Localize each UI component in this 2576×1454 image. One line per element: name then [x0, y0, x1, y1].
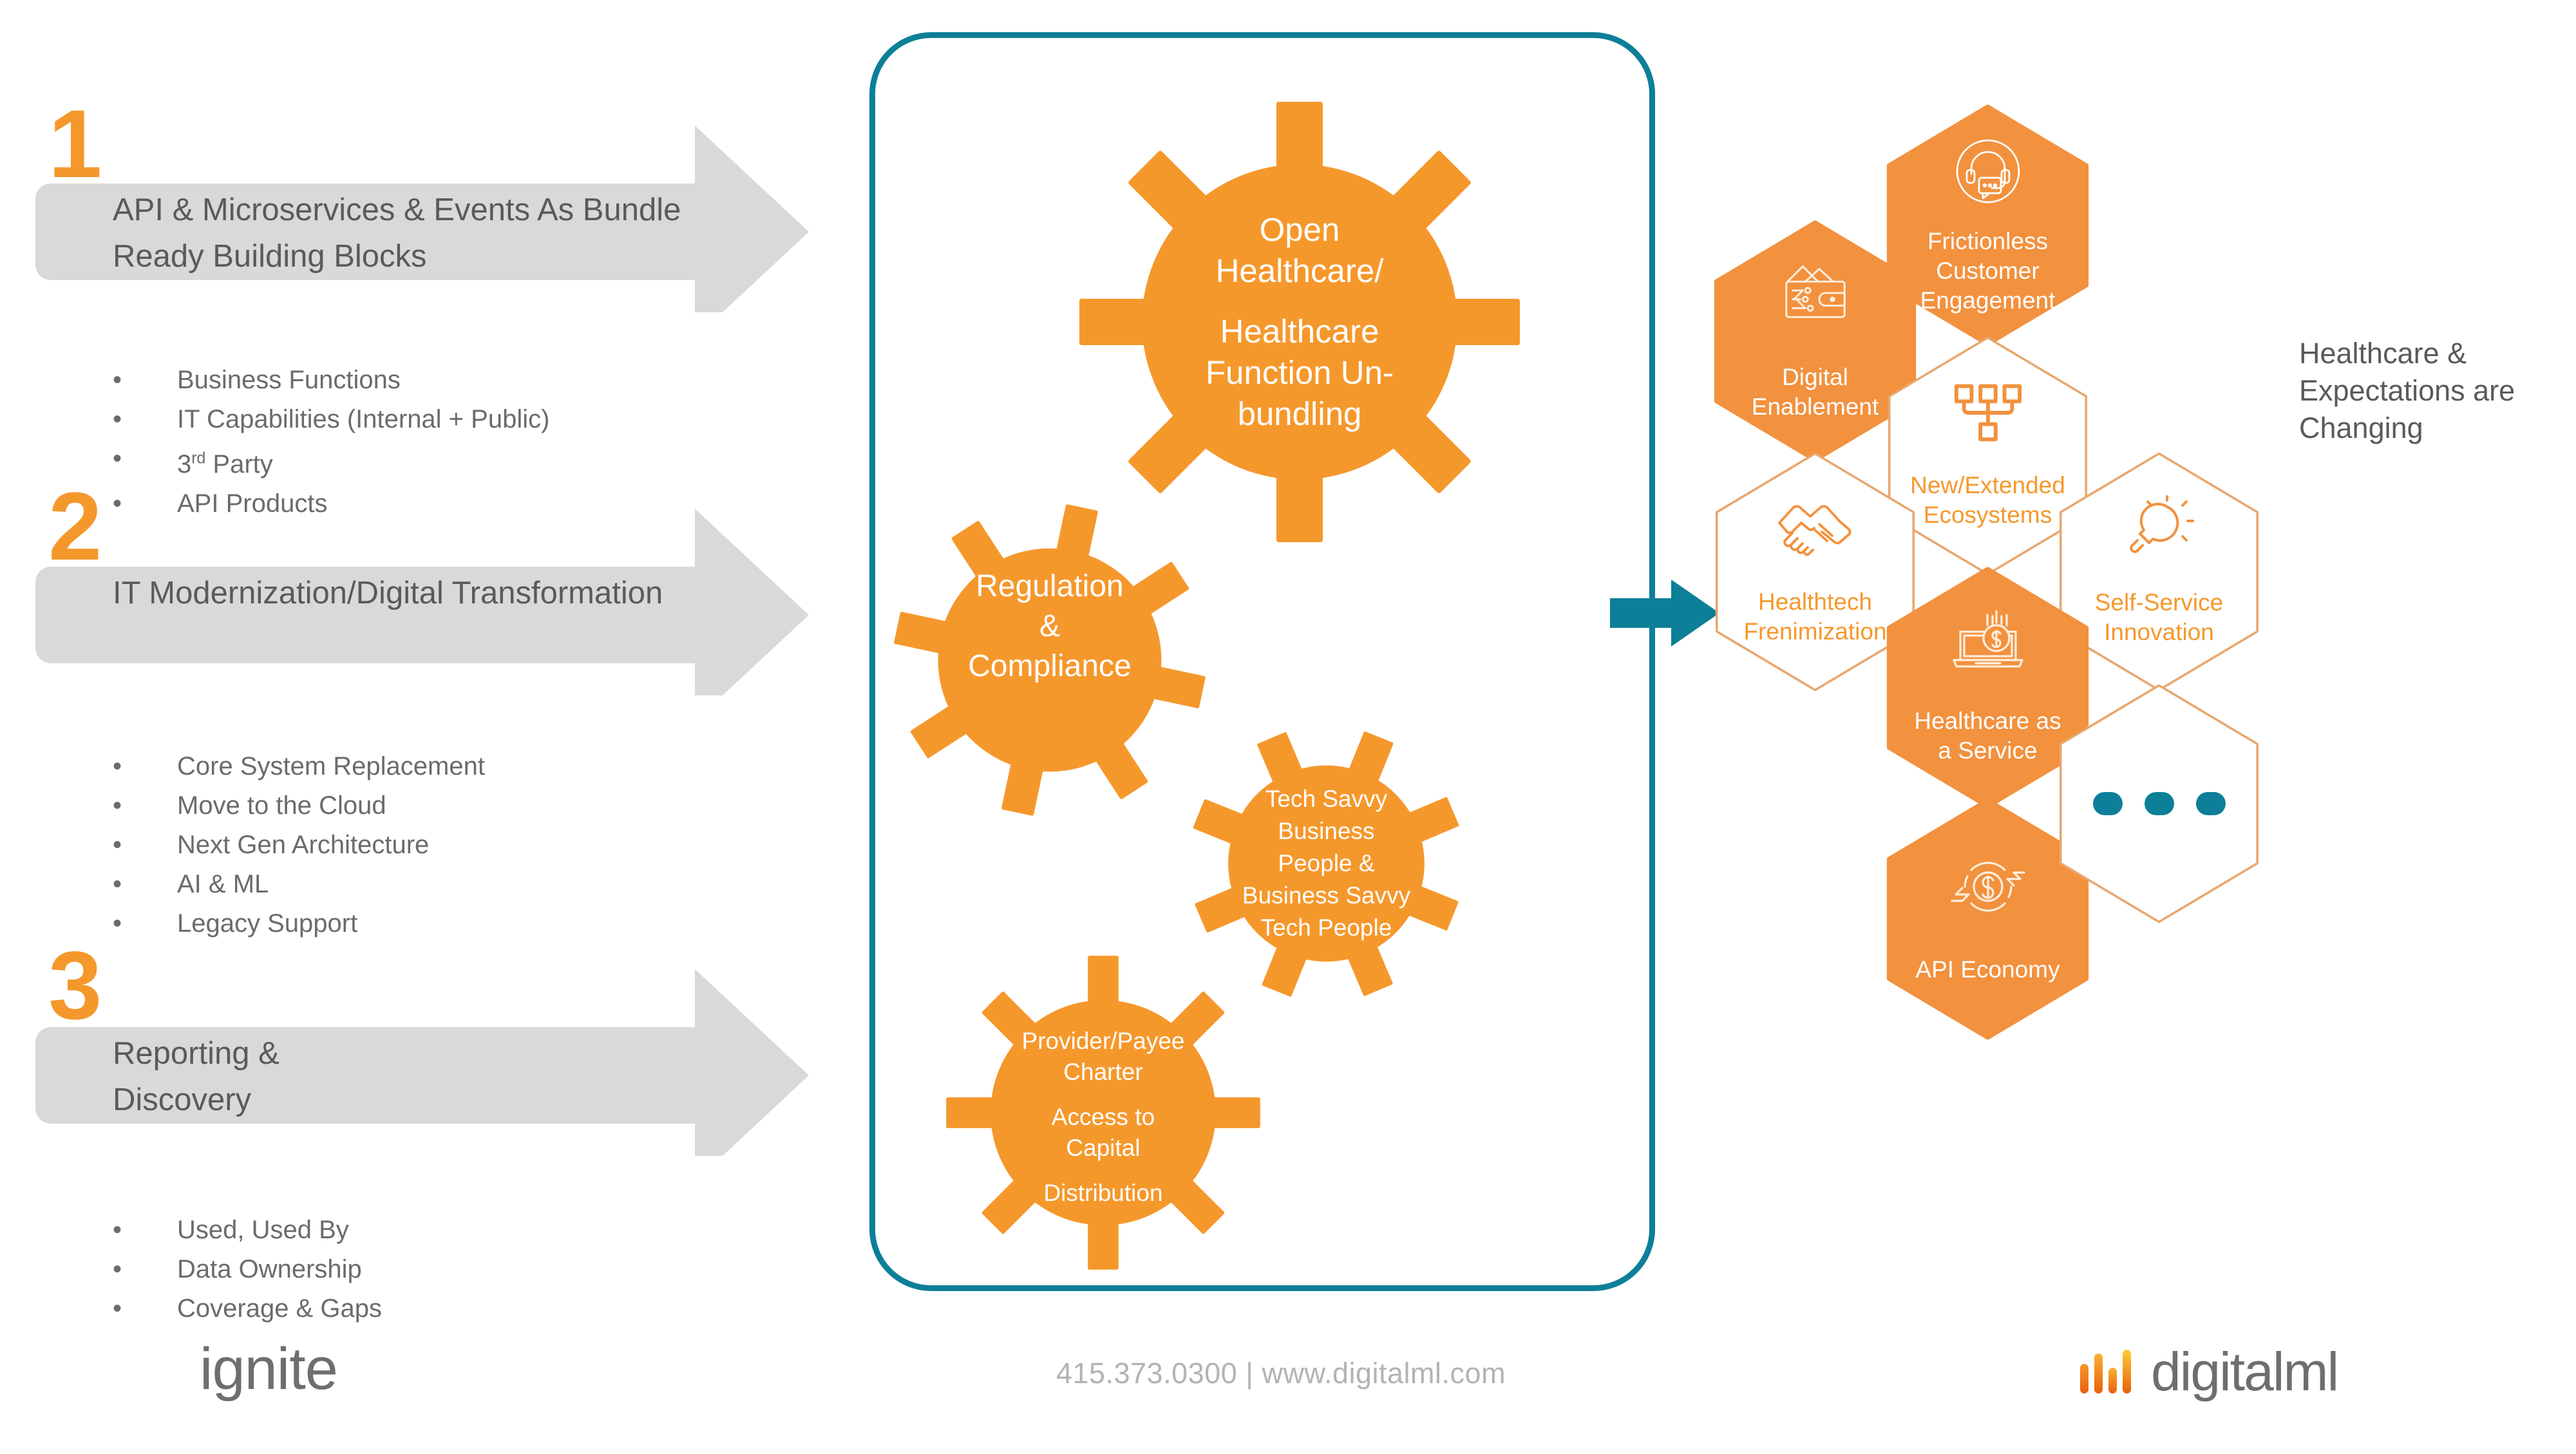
bullet-dot: •: [113, 1250, 122, 1289]
list-item: •Legacy Support: [177, 904, 485, 943]
list-item: •AI & ML: [177, 865, 485, 904]
footer-contact: 415.373.0300 | www.digitalml.com: [1056, 1359, 1506, 1388]
hexagon-frictionless-customer-engagement[interactable]: Frictionless Customer Engagement: [1883, 104, 2092, 346]
gear-regulation-compliance: Regulation & Compliance: [882, 496, 1217, 824]
step-bullets-1: •Business Functions •IT Capabilities (In…: [177, 361, 549, 524]
bullet-dot: •: [113, 1211, 122, 1250]
bullet-dot: •: [113, 439, 122, 478]
bullet-dot: •: [113, 904, 122, 943]
list-item: •Next Gen Architecture: [177, 826, 485, 865]
bullet-dot: •: [113, 400, 122, 439]
step-number-1: 1: [48, 95, 100, 192]
flow-arrow-icon: [1610, 574, 1726, 655]
digitalml-bars-icon: [2080, 1350, 2137, 1393]
bullet-dot: •: [113, 865, 122, 904]
list-item: •Data Ownership: [177, 1250, 382, 1289]
list-item: •Used, Used By: [177, 1211, 382, 1250]
arrow-right-icon: [1610, 574, 1726, 652]
hexagon-shape: [1883, 104, 2092, 346]
bullet-dot: •: [113, 786, 122, 826]
step-title-1: API & Microservices & Events As Bundle R…: [113, 187, 692, 279]
digitalml-wordmark: digitalml: [2151, 1345, 2338, 1399]
ignite-logo: ignite: [200, 1339, 337, 1399]
digitalml-logo: digitalml: [2080, 1345, 2338, 1399]
list-item: •IT Capabilities (Internal + Public): [177, 400, 549, 439]
step-title-2: IT Modernization/Digital Transformation: [113, 570, 692, 616]
bullet-dot: •: [113, 747, 122, 786]
list-item: •API Products: [177, 484, 549, 524]
list-item: •Coverage & Gaps: [177, 1289, 382, 1328]
bullet-dot: •: [113, 1289, 122, 1328]
slide-canvas: 1 API & Microservices & Events As Bundle…: [0, 0, 2576, 1454]
bullet-dot: •: [113, 826, 122, 865]
side-note-text: Healthcare & Expectations are Changing: [2299, 335, 2576, 447]
step-number-3: 3: [48, 937, 100, 1034]
list-item: •3rd Party: [177, 439, 549, 484]
list-item: •Move to the Cloud: [177, 786, 485, 826]
gear-provider-payee: Provider/Payee Charter Access to Capital…: [929, 942, 1277, 1283]
list-item: •Core System Replacement: [177, 747, 485, 786]
bullet-dot: •: [113, 361, 122, 400]
gear-shape: [1061, 90, 1538, 554]
gear-shape: [882, 496, 1217, 824]
bullet-dot: •: [113, 484, 122, 524]
step-bullets-2: •Core System Replacement •Move to the Cl…: [177, 747, 485, 943]
step-title-3: Reporting & Discovery: [113, 1030, 409, 1123]
gear-open-healthcare: Open Healthcare/ Healthcare Function Un-…: [1061, 90, 1538, 554]
step-number-2: 2: [48, 478, 100, 574]
list-item: •Business Functions: [177, 361, 549, 400]
step1-bullet3: 3rd Party: [177, 450, 273, 478]
step-bullets-3: •Used, Used By •Data Ownership •Coverage…: [177, 1211, 382, 1328]
hexagon-more-ellipsis[interactable]: [2054, 683, 2264, 925]
hexagon-shape: [2054, 683, 2264, 925]
gear-shape: [929, 942, 1277, 1283]
